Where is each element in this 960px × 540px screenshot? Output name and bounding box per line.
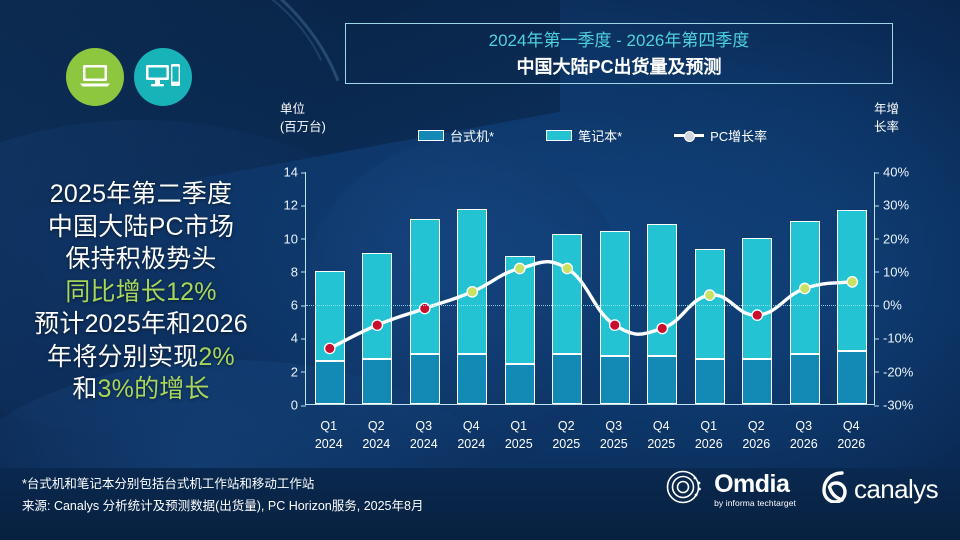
y-axis-tick: 2 xyxy=(291,364,306,379)
growth-marker-Q1-2024[interactable] xyxy=(325,343,335,353)
x-label-year: 2025 xyxy=(590,436,638,454)
badge-group xyxy=(66,48,192,106)
omdia-mark-icon xyxy=(665,467,705,512)
x-axis-label-Q4-2025: Q42025 xyxy=(638,418,686,454)
x-label-year: 2026 xyxy=(780,436,828,454)
omdia-tagline: by informa techtarget xyxy=(714,499,796,508)
growth-marker-Q3-2026[interactable] xyxy=(800,283,810,293)
x-label-quarter: Q1 xyxy=(685,418,733,436)
x-label-quarter: Q4 xyxy=(828,418,876,436)
canalys-name: canalys xyxy=(854,474,938,505)
x-axis-label-Q2-2025: Q22025 xyxy=(543,418,591,454)
x-axis-label-Q2-2024: Q22024 xyxy=(353,418,401,454)
y-axis-tick: 8 xyxy=(291,264,306,279)
headline-line-6-text: 年将分别实现 xyxy=(47,343,198,371)
y2-axis-tick: -30% xyxy=(874,398,913,413)
omdia-name: Omdia xyxy=(714,472,796,497)
headline-line-6-value: 2% xyxy=(198,343,235,371)
x-label-year: 2025 xyxy=(543,436,591,454)
x-label-quarter: Q1 xyxy=(495,418,543,436)
growth-marker-Q1-2026[interactable] xyxy=(705,290,715,300)
chart-legend: 台式机*笔记本*PC增长率 xyxy=(418,126,767,145)
y2-axis-tick: 30% xyxy=(874,198,909,213)
y-axis-tick: 14 xyxy=(284,165,306,180)
y-axis-tick: 6 xyxy=(291,298,306,313)
legend-label: 台式机* xyxy=(450,126,494,145)
y2-axis-unit-line-1: 年增 xyxy=(874,100,899,118)
canalys-logo: canalys xyxy=(822,471,938,508)
headline-line-7-value: 3% xyxy=(98,375,135,403)
y2-axis-tick: -10% xyxy=(874,331,913,346)
y2-axis-tick: 0% xyxy=(874,298,902,313)
canalys-mark-icon xyxy=(822,471,848,508)
x-label-year: 2025 xyxy=(495,436,543,454)
x-axis-label-Q3-2025: Q32025 xyxy=(590,418,638,454)
desktop-mobile-icon xyxy=(145,62,181,93)
logo-group: Omdia by informa techtarget canalys xyxy=(665,467,938,512)
headline-line-6: 年将分别实现2% xyxy=(0,341,282,374)
y-axis-unit-label: 单位 (百万台) xyxy=(280,100,326,136)
growth-marker-Q2-2025[interactable] xyxy=(562,263,572,273)
growth-marker-Q4-2026[interactable] xyxy=(847,277,857,287)
omdia-logo: Omdia by informa techtarget xyxy=(665,467,796,512)
x-axis-label-Q3-2024: Q32024 xyxy=(400,418,448,454)
y2-axis-tick: 20% xyxy=(874,231,909,246)
legend-label: PC增长率 xyxy=(710,126,767,145)
y-axis-tick: 4 xyxy=(291,331,306,346)
y2-axis-tick: 10% xyxy=(874,264,909,279)
y2-axis-unit-label: 年增 长率 xyxy=(874,100,899,136)
growth-marker-Q2-2026[interactable] xyxy=(752,310,762,320)
growth-line-svg xyxy=(306,172,876,405)
x-label-quarter: Q1 xyxy=(305,418,353,436)
y-axis-tick: 12 xyxy=(284,198,306,213)
growth-marker-Q4-2024[interactable] xyxy=(467,287,477,297)
zero-gridline xyxy=(306,305,874,306)
headline-line-2: 中国大陆PC市场 xyxy=(0,211,282,244)
legend-item-1[interactable]: 台式机* xyxy=(418,126,494,145)
x-label-quarter: Q3 xyxy=(590,418,638,436)
headline-block: 2025年第二季度 中国大陆PC市场 保持积极势头 同比增长12% 预计2025… xyxy=(0,178,282,406)
legend-line-marker-icon xyxy=(674,130,704,141)
x-label-year: 2026 xyxy=(685,436,733,454)
headline-line-7-suffix: 的增长 xyxy=(134,375,210,403)
x-label-quarter: Q4 xyxy=(448,418,496,436)
y2-axis-tick: -20% xyxy=(874,364,913,379)
footnote-block: *台式机和笔记本分别包括台式机工作站和移动工作站 来源: Canalys 分析统… xyxy=(22,474,423,518)
x-axis-label-Q1-2026: Q12026 xyxy=(685,418,733,454)
y-axis-unit-line-1: 单位 xyxy=(280,100,326,118)
laptop-icon xyxy=(78,62,112,93)
chart-title-box: 2024年第一季度 - 2026年第四季度 中国大陆PC出货量及预测 xyxy=(345,23,893,84)
x-label-quarter: Q2 xyxy=(353,418,401,436)
x-label-year: 2026 xyxy=(733,436,781,454)
headline-line-7: 和3%的增长 xyxy=(0,373,282,406)
x-label-year: 2024 xyxy=(353,436,401,454)
chart-title-main: 中国大陆PC出货量及预测 xyxy=(346,54,892,80)
x-axis-label-Q1-2025: Q12025 xyxy=(495,418,543,454)
chart-area: 单位 (百万台) 年增 长率 台式机*笔记本*PC增长率 02468101214… xyxy=(258,96,958,456)
x-label-quarter: Q2 xyxy=(543,418,591,436)
omdia-wordmark: Omdia by informa techtarget xyxy=(714,472,796,508)
desktop-mobile-badge xyxy=(134,48,192,106)
legend-item-3[interactable]: PC增长率 xyxy=(674,126,767,145)
x-label-quarter: Q2 xyxy=(733,418,781,436)
growth-marker-Q1-2025[interactable] xyxy=(515,263,525,273)
infographic-root: 2025年第二季度 中国大陆PC市场 保持积极势头 同比增长12% 预计2025… xyxy=(0,0,960,540)
y2-axis-tick: 40% xyxy=(874,165,909,180)
x-axis-label-Q1-2024: Q12024 xyxy=(305,418,353,454)
x-label-year: 2024 xyxy=(400,436,448,454)
legend-swatch-icon xyxy=(418,130,444,141)
laptop-badge xyxy=(66,48,124,106)
headline-line-5: 预计2025年和2026 xyxy=(0,308,282,341)
legend-label: 笔记本* xyxy=(578,126,622,145)
x-axis-label-Q4-2024: Q42024 xyxy=(448,418,496,454)
legend-item-2[interactable]: 笔记本* xyxy=(546,126,622,145)
y2-axis-unit-line-2: 长率 xyxy=(874,118,899,136)
headline-line-3: 保持积极势头 xyxy=(0,243,282,276)
x-label-year: 2024 xyxy=(305,436,353,454)
y-axis-unit-line-2: (百万台) xyxy=(280,118,326,136)
plot-area: 02468101214-30%-20%-10%0%10%20%30%40% xyxy=(305,172,875,405)
growth-marker-Q4-2025[interactable] xyxy=(657,323,667,333)
growth-marker-Q2-2024[interactable] xyxy=(372,320,382,330)
chart-title-period: 2024年第一季度 - 2026年第四季度 xyxy=(346,29,892,54)
y-axis-tick: 10 xyxy=(284,231,306,246)
x-label-year: 2024 xyxy=(448,436,496,454)
footnote-line-1: *台式机和笔记本分别包括台式机工作站和移动工作站 xyxy=(22,474,423,496)
headline-line-4: 同比增长12% xyxy=(0,276,282,309)
x-label-year: 2025 xyxy=(638,436,686,454)
x-label-quarter: Q3 xyxy=(780,418,828,436)
x-axis-label-Q3-2026: Q32026 xyxy=(780,418,828,454)
headline-line-7-prefix: 和 xyxy=(72,375,97,403)
x-axis-labels: Q12024Q22024Q32024Q42024Q12025Q22025Q320… xyxy=(305,410,875,454)
x-label-year: 2026 xyxy=(828,436,876,454)
x-label-quarter: Q3 xyxy=(400,418,448,436)
growth-marker-Q3-2025[interactable] xyxy=(610,320,620,330)
legend-swatch-icon xyxy=(546,130,572,141)
x-label-quarter: Q4 xyxy=(638,418,686,436)
y-axis-tick: 0 xyxy=(291,398,306,413)
footnote-line-2: 来源: Canalys 分析统计及预测数据(出货量), PC Horizon服务… xyxy=(22,496,423,518)
x-axis-label-Q2-2026: Q22026 xyxy=(733,418,781,454)
headline-line-1: 2025年第二季度 xyxy=(0,178,282,211)
x-axis-label-Q4-2026: Q42026 xyxy=(828,418,876,454)
